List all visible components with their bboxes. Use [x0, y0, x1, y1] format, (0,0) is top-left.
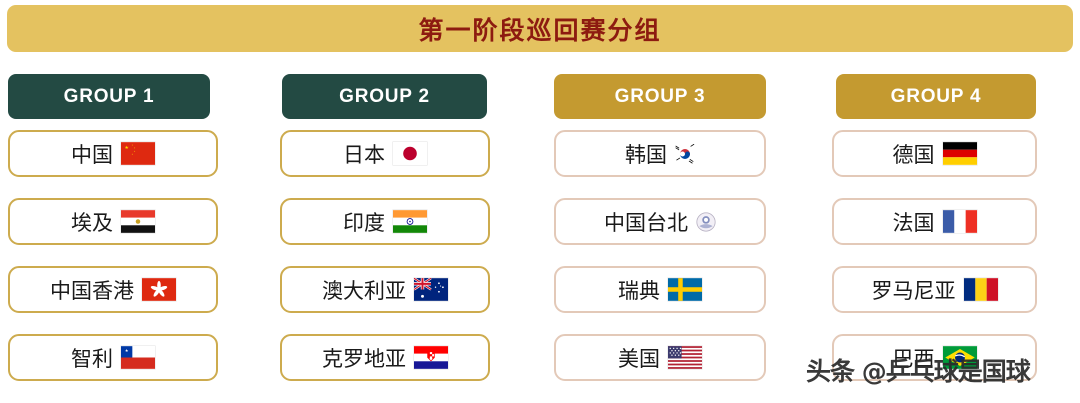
team-cell[interactable]: 法国	[832, 198, 1037, 245]
group-header-3[interactable]: GROUP 3	[554, 74, 766, 119]
team-flag	[113, 346, 155, 369]
flag-cn-icon	[121, 142, 155, 165]
group-column-2: GROUP 2日本 印度 澳大利亚	[270, 60, 540, 403]
team-name: 克罗地亚	[322, 343, 406, 373]
team-flag	[935, 346, 977, 369]
flag-hk-icon	[142, 278, 176, 301]
team-flag	[667, 144, 695, 164]
team-flag	[406, 278, 448, 301]
team-flag	[660, 346, 702, 369]
team-flag	[935, 210, 977, 233]
group-header-1[interactable]: GROUP 1	[8, 74, 210, 119]
team-name: 埃及	[71, 207, 113, 237]
flag-ro-icon	[964, 278, 998, 301]
group-column-4: GROUP 4德国 法国 罗马尼亚 巴西	[810, 60, 1080, 403]
team-name: 巴西	[893, 343, 935, 373]
team-cell[interactable]: 德国	[832, 130, 1037, 177]
team-name: 智利	[71, 343, 113, 373]
flag-de-icon	[943, 142, 977, 165]
flag-jp-icon	[393, 142, 427, 165]
team-cell[interactable]: 智利	[8, 334, 218, 381]
team-cell[interactable]: 克罗地亚	[280, 334, 490, 381]
flag-in-icon	[393, 210, 427, 233]
title-banner: 第一阶段巡回赛分组	[7, 5, 1073, 52]
team-name: 韩国	[625, 139, 667, 169]
team-cell[interactable]: 罗马尼亚	[832, 266, 1037, 313]
flag-eg-icon	[121, 210, 155, 233]
flag-br-icon	[943, 346, 977, 369]
team-name: 中国	[71, 139, 113, 169]
team-name: 法国	[893, 207, 935, 237]
page-title: 第一阶段巡回赛分组	[418, 11, 661, 47]
team-cell[interactable]: 埃及	[8, 198, 218, 245]
team-name: 印度	[343, 207, 385, 237]
flag-au-icon	[414, 278, 448, 301]
flag-cl-icon	[121, 346, 155, 369]
flag-fr-icon	[943, 210, 977, 233]
team-name: 澳大利亚	[322, 275, 406, 305]
flag-us-icon	[668, 346, 702, 369]
group-column-1: GROUP 1中国 埃及 中国香港 智利	[0, 60, 270, 403]
team-flag	[385, 210, 427, 233]
team-cell[interactable]: 巴西	[832, 334, 1037, 381]
team-name: 瑞典	[618, 275, 660, 305]
team-name: 中国台北	[604, 207, 688, 237]
team-cell[interactable]: 瑞典	[554, 266, 766, 313]
emblem-tpe-icon	[696, 212, 716, 232]
team-flag	[113, 210, 155, 233]
team-cell[interactable]: 日本	[280, 130, 490, 177]
team-cell[interactable]: 中国台北	[554, 198, 766, 245]
team-name: 日本	[343, 139, 385, 169]
team-cell[interactable]: 澳大利亚	[280, 266, 490, 313]
group-column-3: GROUP 3韩国 中国台北 瑞典 美国	[540, 60, 810, 403]
team-flag	[660, 278, 702, 301]
team-flag	[956, 278, 998, 301]
team-cell[interactable]: 中国香港	[8, 266, 218, 313]
team-cell[interactable]: 中国	[8, 130, 218, 177]
team-flag	[935, 142, 977, 165]
team-flag	[688, 212, 716, 232]
flag-kr-icon	[675, 144, 695, 164]
team-name: 罗马尼亚	[872, 275, 956, 305]
team-flag	[134, 278, 176, 301]
team-cell[interactable]: 印度	[280, 198, 490, 245]
groups-grid: GROUP 1中国 埃及 中国香港 智利	[0, 60, 1080, 403]
team-name: 中国香港	[50, 275, 134, 305]
flag-se-icon	[668, 278, 702, 301]
group-header-4[interactable]: GROUP 4	[836, 74, 1036, 119]
team-cell[interactable]: 韩国	[554, 130, 766, 177]
team-flag	[406, 346, 448, 369]
team-name: 德国	[893, 139, 935, 169]
flag-hr-icon	[414, 346, 448, 369]
group-header-2[interactable]: GROUP 2	[282, 74, 487, 119]
team-flag	[113, 142, 155, 165]
team-flag	[385, 142, 427, 165]
team-name: 美国	[618, 343, 660, 373]
team-cell[interactable]: 美国	[554, 334, 766, 381]
